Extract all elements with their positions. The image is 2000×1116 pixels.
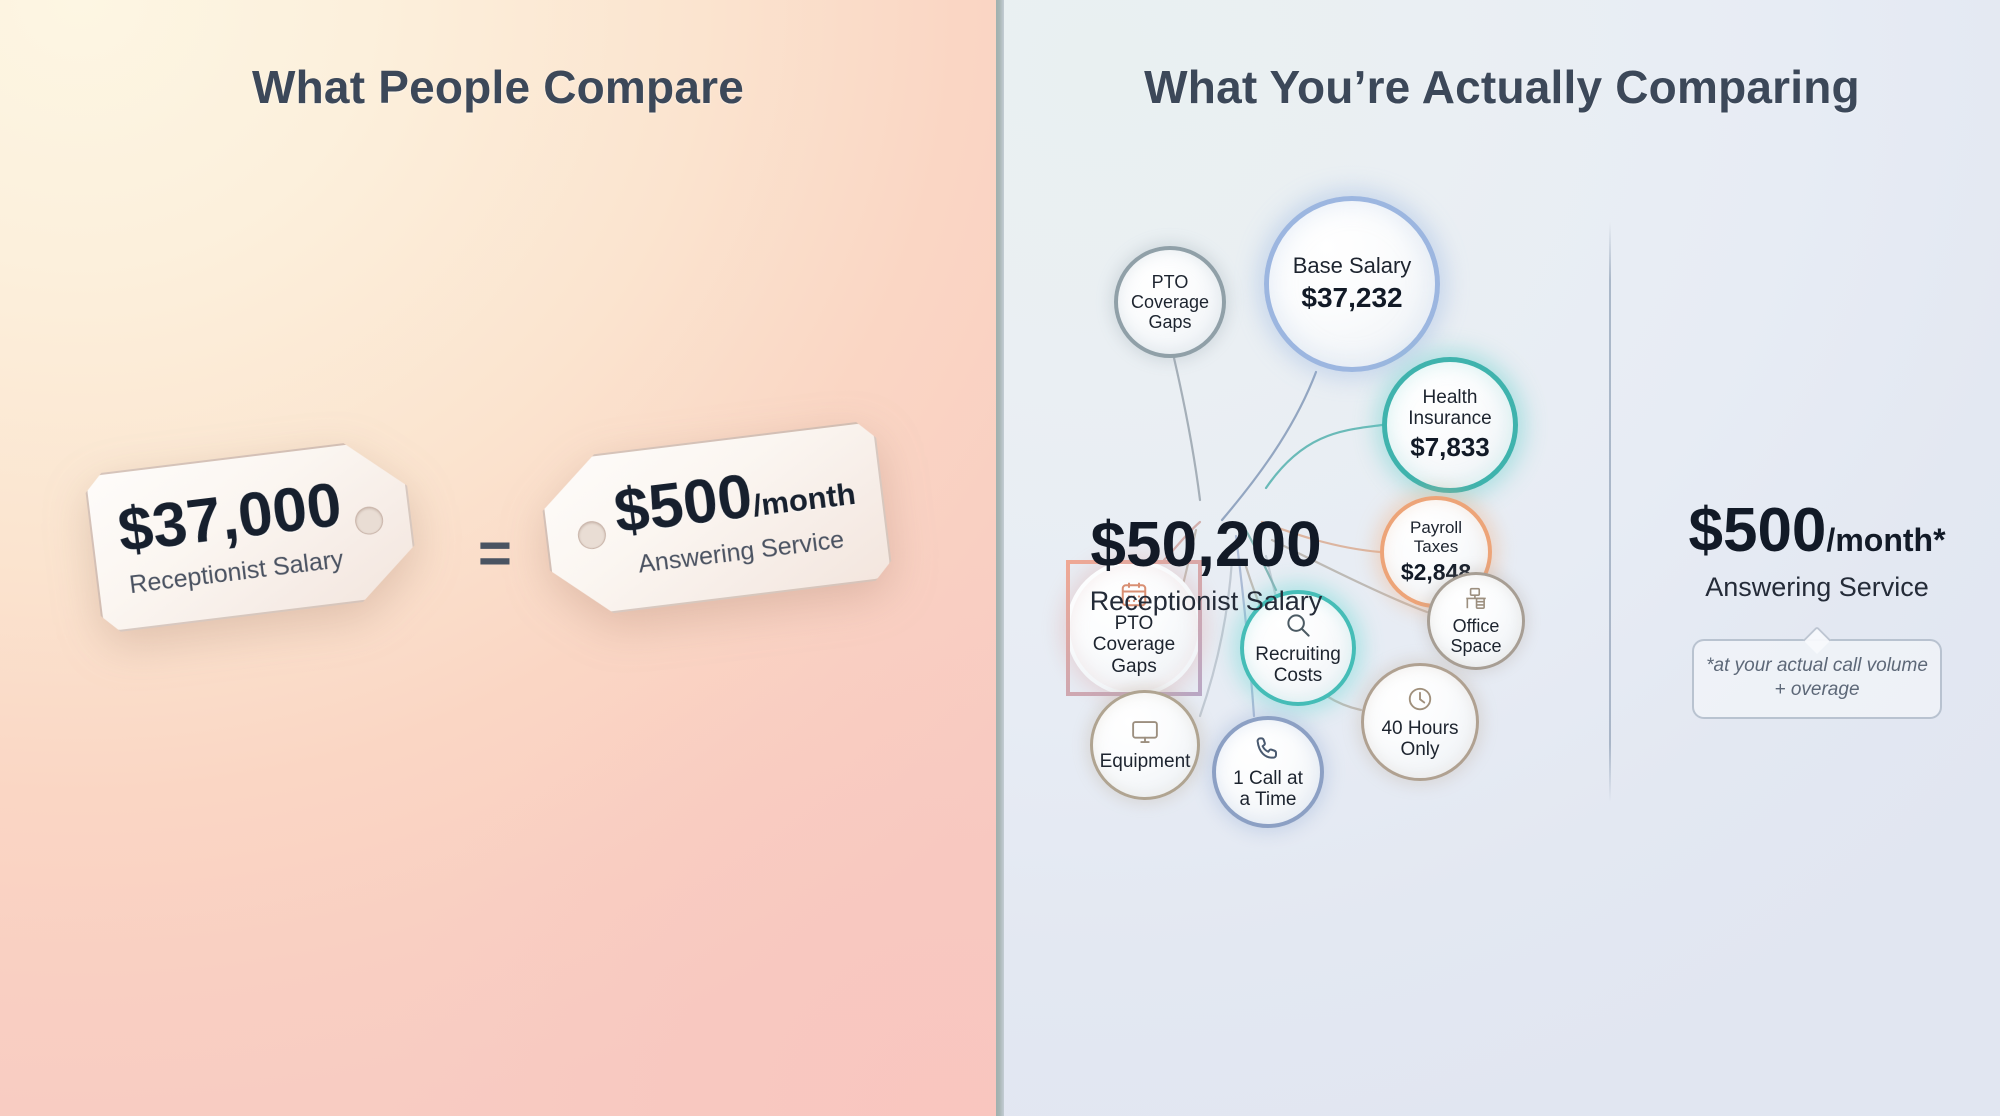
tag-hole-icon	[576, 520, 607, 551]
bubble-health-insurance[interactable]: HealthInsurance $7,833	[1382, 357, 1518, 493]
bubble-label: PayrollTaxes	[1410, 518, 1462, 556]
panel-divider	[996, 0, 1004, 1116]
tag-label-service: Answering Service	[637, 526, 846, 580]
right-panel: What You’re Actually Comparing $50,200	[1004, 0, 2000, 1116]
answering-service-block: $500/month* Answering Service *at your a…	[1652, 500, 1982, 719]
bubble-pto-coverage-gaps-top[interactable]: PTOCoverageGaps	[1114, 246, 1226, 358]
bubble-label: Base Salary	[1293, 254, 1412, 279]
clock-icon	[1405, 684, 1435, 714]
bubble-label: PTOCoverageGaps	[1131, 272, 1209, 332]
bubble-one-call-at-a-time[interactable]: 1 Call ata Time	[1212, 716, 1324, 828]
bubble-label: PTOCoverageGaps	[1093, 613, 1175, 677]
price-tag-answering-service: $500/month Answering Service	[537, 420, 894, 620]
tag-hole-icon	[354, 505, 385, 536]
bubble-label: 1 Call ata Time	[1233, 768, 1303, 811]
price-tag-receptionist-salary: $37,000 Receptionist Salary	[83, 436, 420, 634]
total-label: Receptionist Salary	[1056, 586, 1356, 617]
infographic-canvas: What People Compare $37,000 Receptionist…	[0, 0, 2000, 1116]
bubble-label: RecruitingCosts	[1255, 644, 1341, 687]
bubble-equipment[interactable]: Equipment	[1090, 690, 1200, 800]
tag-label-salary: Receptionist Salary	[128, 545, 345, 600]
phone-icon	[1253, 734, 1283, 764]
tag-amount-salary: $37,000	[115, 474, 345, 563]
answering-service-period: /month*	[1826, 522, 1945, 558]
answering-service-amount: $500/month*	[1652, 500, 1982, 562]
total-cost-block: $50,200 Receptionist Salary	[1056, 512, 1356, 617]
monitor-icon	[1130, 717, 1160, 747]
left-panel: What People Compare $37,000 Receptionist…	[0, 0, 996, 1116]
answering-service-value: $500	[1688, 496, 1826, 565]
bubble-40-hours-only[interactable]: 40 HoursOnly	[1361, 663, 1479, 781]
bubble-label: HealthInsurance	[1408, 387, 1491, 430]
total-amount: $50,200	[1056, 512, 1356, 576]
bubble-label: 40 HoursOnly	[1381, 718, 1458, 761]
bubble-office-space[interactable]: OfficeSpace	[1427, 572, 1525, 670]
tag-amount-service: $500/month	[611, 453, 858, 544]
bubble-value: $7,833	[1410, 432, 1490, 463]
answering-service-footnote: *at your actual call volume + overage	[1692, 639, 1942, 719]
bubble-label: OfficeSpace	[1450, 616, 1501, 656]
tag-amount-service-value: $500	[611, 462, 756, 547]
desk-icon	[1463, 586, 1489, 612]
bubble-value: $37,232	[1301, 282, 1402, 314]
bubble-label: Equipment	[1100, 751, 1191, 772]
tag-amount-service-period: /month	[751, 476, 858, 523]
bubble-base-salary[interactable]: Base Salary $37,232	[1264, 196, 1440, 372]
answering-service-label: Answering Service	[1652, 572, 1982, 603]
left-panel-title: What People Compare	[0, 60, 996, 114]
equals-sign: =	[478, 525, 512, 583]
